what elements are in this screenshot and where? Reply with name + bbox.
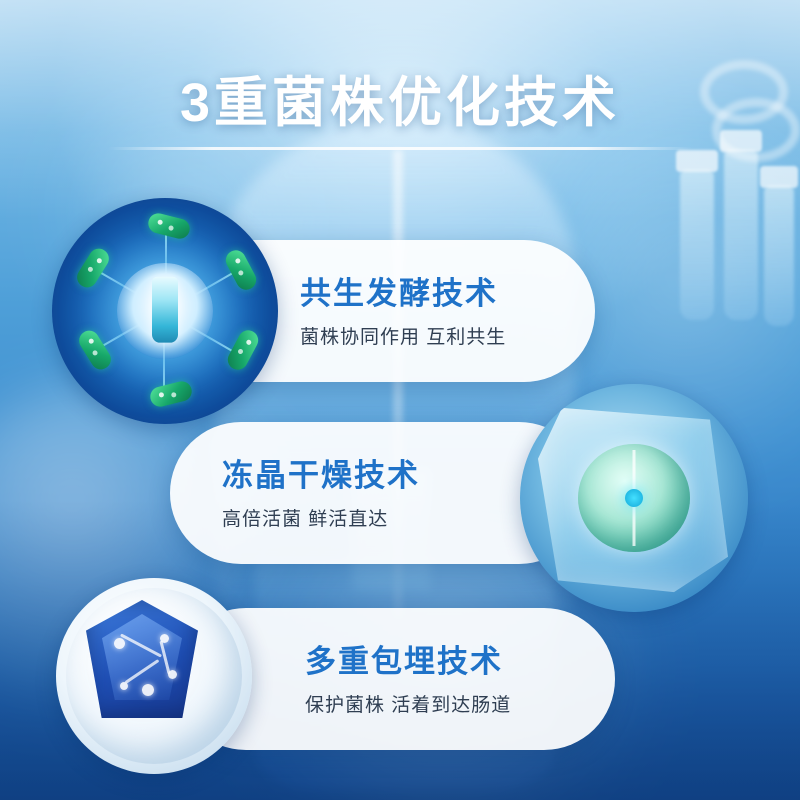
feature-title-2: 冻晶干燥技术 bbox=[222, 450, 420, 495]
feature-subtitle-3: 保护菌株 活着到达肠道 bbox=[305, 690, 511, 717]
feature-text-2: 冻晶干燥技术 高倍活菌 鲜活直达 bbox=[222, 450, 420, 531]
molecule-node bbox=[142, 684, 154, 696]
feature-subtitle-1: 菌株协同作用 互利共生 bbox=[300, 322, 506, 349]
molecule-node bbox=[168, 670, 177, 679]
bacteria-network-icon bbox=[52, 198, 278, 424]
feature-text-1: 共生发酵技术 菌株协同作用 互利共生 bbox=[300, 268, 506, 349]
molecule-node bbox=[160, 634, 169, 643]
poster-canvas: 3重菌株优化技术 共生发酵技术 菌株协同作用 互利共生 冻晶干燥技术 高倍活菌 … bbox=[0, 0, 800, 800]
feature-title-1: 共生发酵技术 bbox=[300, 268, 506, 313]
feature-text-3: 多重包埋技术 保护菌株 活着到达肠道 bbox=[305, 636, 511, 717]
probiotic-tube bbox=[152, 277, 178, 343]
page-title: 3重菌株优化技术 bbox=[0, 58, 800, 137]
encapsulation-sphere-icon bbox=[56, 578, 252, 774]
molecule-node bbox=[120, 682, 128, 690]
ice-cube-capsule-icon bbox=[520, 384, 748, 612]
capsule-core-glow bbox=[625, 489, 643, 507]
feature-title-3: 多重包埋技术 bbox=[305, 636, 511, 681]
molecule-node bbox=[114, 638, 125, 649]
title-divider bbox=[108, 147, 692, 150]
feature-subtitle-2: 高倍活菌 鲜活直达 bbox=[222, 504, 420, 531]
